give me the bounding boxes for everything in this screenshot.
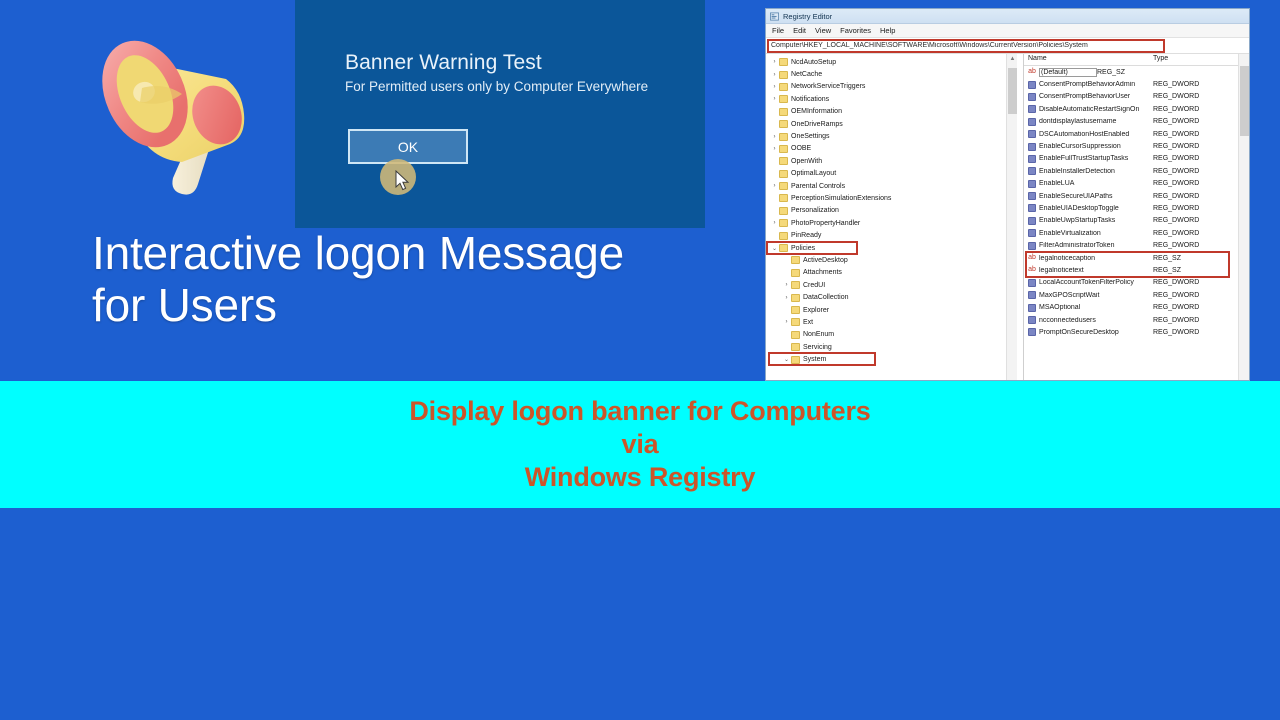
dword-value-icon [1028, 229, 1036, 237]
cyan-caption-banner: Display logon banner for Computers via W… [0, 381, 1280, 508]
dword-value-icon [1028, 167, 1036, 175]
value-type: REG_DWORD [1153, 317, 1213, 324]
chevron-icon[interactable]: › [782, 282, 791, 288]
dword-value-icon [1028, 93, 1036, 101]
value-row[interactable]: ablegalnoticetextREG_SZ [1024, 264, 1249, 276]
value-name: EnableUIADesktopToggle [1039, 205, 1153, 212]
value-row[interactable]: ab(Default)REG_SZ [1024, 66, 1249, 78]
folder-icon [791, 269, 800, 277]
value-row[interactable]: EnableLUAREG_DWORD [1024, 178, 1249, 190]
regedit-titlebar: Registry Editor [766, 9, 1249, 24]
dword-value-icon [1028, 316, 1036, 324]
value-type: REG_DWORD [1153, 131, 1213, 138]
folder-icon [779, 219, 788, 227]
chevron-icon[interactable]: › [770, 72, 779, 78]
dword-value-icon [1028, 143, 1036, 151]
value-name: legalnoticecaption [1039, 255, 1153, 262]
banner-body-text: For Permitted users only by Computer Eve… [345, 79, 648, 94]
value-row[interactable]: LocalAccountTokenFilterPolicyREG_DWORD [1024, 277, 1249, 289]
tree-item[interactable]: Personalization [766, 205, 1023, 217]
menu-view[interactable]: View [815, 26, 831, 35]
registry-editor-window: Registry Editor File Edit View Favorites… [765, 8, 1250, 381]
tree-item-label: Explorer [803, 307, 829, 314]
caption-line-1: Display logon banner for Computers [409, 396, 870, 427]
value-type: REG_DWORD [1153, 193, 1213, 200]
value-type: REG_DWORD [1153, 230, 1213, 237]
folder-icon [779, 157, 788, 165]
tree-item[interactable]: ActiveDesktop [766, 254, 1023, 266]
folder-icon [779, 182, 788, 190]
chevron-icon[interactable]: › [770, 84, 779, 90]
tree-item-label: NcdAutoSetup [791, 59, 836, 66]
value-row[interactable]: ConsentPromptBehaviorUserREG_DWORD [1024, 91, 1249, 103]
folder-icon [779, 71, 788, 79]
caption-line-2: via [622, 429, 659, 460]
tree-item-label: NetworkServiceTriggers [791, 83, 865, 90]
chevron-icon[interactable]: › [770, 59, 779, 65]
value-type: REG_DWORD [1153, 155, 1213, 162]
page-title: Interactive logon Message for Users [92, 228, 792, 331]
folder-icon [779, 170, 788, 178]
value-type: REG_DWORD [1153, 168, 1213, 175]
column-header-type[interactable]: Type [1149, 54, 1209, 65]
registry-tree: ›NcdAutoSetup›NetCache›NetworkServiceTri… [766, 54, 1023, 366]
value-row[interactable]: EnableUwpStartupTasksREG_DWORD [1024, 215, 1249, 227]
values-scrollbar[interactable] [1238, 54, 1249, 380]
dword-value-icon [1028, 180, 1036, 188]
string-value-icon: ab [1028, 68, 1036, 76]
folder-icon [791, 281, 800, 289]
folder-icon [779, 58, 788, 66]
value-row[interactable]: FilterAdministratorTokenREG_DWORD [1024, 239, 1249, 251]
chevron-icon[interactable]: › [770, 183, 779, 189]
folder-icon [791, 294, 800, 302]
folder-icon [779, 244, 788, 252]
folder-icon [791, 343, 800, 351]
tree-scrollbar-thumb[interactable] [1008, 68, 1017, 114]
value-name: PromptOnSecureDesktop [1039, 329, 1153, 336]
values-column-headers: Name Type [1024, 54, 1249, 66]
tree-item-label: Servicing [803, 344, 832, 351]
value-type: REG_DWORD [1153, 81, 1213, 88]
folder-icon [779, 232, 788, 240]
value-name: MaxGPOScriptWait [1039, 292, 1153, 299]
folder-icon [791, 256, 800, 264]
tree-item-label: OptimalLayout [791, 170, 836, 177]
tree-item-label: PinReady [791, 232, 821, 239]
tree-item-label: Ext [803, 319, 813, 326]
tree-item[interactable]: OptimalLayout [766, 168, 1023, 180]
value-row[interactable]: EnableVirtualizationREG_DWORD [1024, 227, 1249, 239]
registry-tree-pane[interactable]: ›NcdAutoSetup›NetCache›NetworkServiceTri… [766, 54, 1024, 380]
string-value-icon: ab [1028, 254, 1036, 262]
chevron-icon[interactable]: › [770, 96, 779, 102]
tree-item[interactable]: Servicing [766, 341, 1023, 353]
folder-icon [791, 306, 800, 314]
values-scrollbar-thumb[interactable] [1240, 66, 1249, 136]
value-row[interactable]: ncconnectedusersREG_DWORD [1024, 314, 1249, 326]
value-type: REG_DWORD [1153, 180, 1213, 187]
tree-item[interactable]: ›DataCollection [766, 291, 1023, 303]
value-type: REG_DWORD [1153, 242, 1213, 249]
tree-item-label: OpenWith [791, 158, 822, 165]
folder-icon [779, 120, 788, 128]
chevron-icon[interactable]: › [770, 146, 779, 152]
column-header-name[interactable]: Name [1024, 54, 1149, 65]
value-type: REG_DWORD [1153, 279, 1213, 286]
value-name: legalnoticetext [1039, 267, 1153, 274]
tree-item[interactable]: ›NetCache [766, 68, 1023, 80]
tree-scroll-up-arrow[interactable]: ▲ [1007, 54, 1018, 65]
tree-item-label: Parental Controls [791, 183, 845, 190]
slide-bottom-area [0, 508, 1280, 720]
value-type: REG_SZ [1153, 255, 1213, 262]
dword-value-icon [1028, 304, 1036, 312]
logon-banner-dialog: Banner Warning Test For Permitted users … [295, 0, 705, 228]
chevron-icon[interactable]: › [770, 220, 779, 226]
value-type: REG_DWORD [1153, 205, 1213, 212]
tree-item-label: NonEnum [803, 331, 834, 338]
chevron-icon[interactable]: ⌄ [782, 356, 791, 363]
tree-item[interactable]: OEMInformation [766, 106, 1023, 118]
value-name: (Default) [1039, 68, 1097, 77]
value-name: EnableLUA [1039, 180, 1153, 187]
dword-value-icon [1028, 130, 1036, 138]
tree-item-label: System [803, 356, 826, 363]
value-name: EnableFullTrustStartupTasks [1039, 155, 1153, 162]
folder-icon [791, 331, 800, 339]
string-value-icon: ab [1028, 266, 1036, 274]
tree-item-label: CredUI [803, 282, 825, 289]
tree-item[interactable]: Attachments [766, 267, 1023, 279]
registry-values-pane[interactable]: Name Type ab(Default)REG_SZConsentPrompt… [1024, 54, 1249, 380]
megaphone-icon [72, 22, 282, 212]
value-row[interactable]: ablegalnoticecaptionREG_SZ [1024, 252, 1249, 264]
value-type: REG_DWORD [1153, 292, 1213, 299]
value-name: ConsentPromptBehaviorUser [1039, 93, 1153, 100]
value-row[interactable]: PromptOnSecureDesktopREG_DWORD [1024, 326, 1249, 338]
tree-item[interactable]: ›Parental Controls [766, 180, 1023, 192]
regedit-body: ›NcdAutoSetup›NetCache›NetworkServiceTri… [766, 54, 1249, 380]
value-type: REG_DWORD [1153, 304, 1213, 311]
folder-icon [779, 194, 788, 202]
dword-value-icon [1028, 242, 1036, 250]
tree-item[interactable]: PinReady [766, 229, 1023, 241]
dword-value-icon [1028, 155, 1036, 163]
tree-item-label: Notifications [791, 96, 829, 103]
tree-item[interactable]: ›OneSettings [766, 130, 1023, 142]
value-type: REG_DWORD [1153, 106, 1213, 113]
value-row[interactable]: dontdisplaylastusernameREG_DWORD [1024, 116, 1249, 128]
tree-item-label: Personalization [791, 207, 839, 214]
tree-item[interactable]: ›CredUI [766, 279, 1023, 291]
value-row[interactable]: MaxGPOScriptWaitREG_DWORD [1024, 289, 1249, 301]
value-name: EnableSecureUIAPaths [1039, 193, 1153, 200]
tree-item-label: Attachments [803, 269, 842, 276]
menu-help[interactable]: Help [880, 26, 895, 35]
value-type: REG_SZ [1097, 69, 1157, 76]
tree-item[interactable]: OpenWith [766, 155, 1023, 167]
page-title-line-2: for Users [92, 280, 792, 332]
folder-icon [779, 207, 788, 215]
tree-item-label: DataCollection [803, 294, 849, 301]
tree-item[interactable]: ›NcdAutoSetup [766, 56, 1023, 68]
value-type: REG_DWORD [1153, 217, 1213, 224]
tree-item-label: OneSettings [791, 133, 830, 140]
tree-item[interactable]: Explorer [766, 304, 1023, 316]
tree-item-label: ActiveDesktop [803, 257, 848, 264]
folder-icon [791, 356, 800, 364]
regedit-menubar: File Edit View Favorites Help [766, 24, 1249, 38]
menu-file[interactable]: File [772, 26, 784, 35]
value-name: EnableInstallerDetection [1039, 168, 1153, 175]
ok-button[interactable]: OK [348, 129, 468, 164]
regedit-address-bar[interactable]: Computer\HKEY_LOCAL_MACHINE\SOFTWARE\Mic… [766, 38, 1249, 54]
folder-icon [779, 108, 788, 116]
tree-item[interactable]: ›OOBE [766, 143, 1023, 155]
value-row[interactable]: EnableUIADesktopToggleREG_DWORD [1024, 202, 1249, 214]
value-name: EnableUwpStartupTasks [1039, 217, 1153, 224]
tree-item-label: OOBE [791, 145, 811, 152]
value-row[interactable]: EnableSecureUIAPathsREG_DWORD [1024, 190, 1249, 202]
chevron-icon[interactable]: › [782, 319, 791, 325]
folder-icon [791, 318, 800, 326]
registry-editor-icon [770, 12, 779, 21]
tree-item[interactable]: ⌄System [766, 353, 1023, 365]
value-type: REG_DWORD [1153, 93, 1213, 100]
chevron-icon[interactable]: ⌄ [770, 245, 779, 252]
value-name: DSCAutomationHostEnabled [1039, 131, 1153, 138]
tree-item-label: NetCache [791, 71, 822, 78]
value-name: EnableVirtualization [1039, 230, 1153, 237]
folder-icon [779, 83, 788, 91]
page-title-line-1: Interactive logon Message [92, 228, 792, 280]
value-name: ncconnectedusers [1039, 317, 1153, 324]
value-type: REG_DWORD [1153, 329, 1213, 336]
value-type: REG_SZ [1153, 267, 1213, 274]
value-type: REG_DWORD [1153, 143, 1213, 150]
tree-item[interactable]: ›PhotoPropertyHandler [766, 217, 1023, 229]
tree-item-label: Policies [791, 245, 815, 252]
tree-scrollbar[interactable]: ▲ [1006, 54, 1017, 380]
value-row[interactable]: EnableInstallerDetectionREG_DWORD [1024, 165, 1249, 177]
tree-item[interactable]: ›NetworkServiceTriggers [766, 81, 1023, 93]
tree-item[interactable]: ›Ext [766, 316, 1023, 328]
tree-item[interactable]: ›Notifications [766, 93, 1023, 105]
value-name: EnableCursorSuppression [1039, 143, 1153, 150]
folder-icon [779, 95, 788, 103]
menu-favorites[interactable]: Favorites [840, 26, 871, 35]
value-name: LocalAccountTokenFilterPolicy [1039, 279, 1153, 286]
value-name: dontdisplaylastusername [1039, 118, 1153, 125]
folder-icon [779, 145, 788, 153]
tree-item-label: PerceptionSimulationExtensions [791, 195, 891, 202]
value-type: REG_DWORD [1153, 118, 1213, 125]
dword-value-icon [1028, 81, 1036, 89]
mouse-cursor-icon [395, 170, 411, 192]
dword-value-icon [1028, 118, 1036, 126]
value-row[interactable]: EnableCursorSuppressionREG_DWORD [1024, 140, 1249, 152]
banner-caption-text: Banner Warning Test [345, 51, 542, 75]
value-row[interactable]: ConsentPromptBehaviorAdminREG_DWORD [1024, 78, 1249, 90]
dword-value-icon [1028, 279, 1036, 287]
registry-values-list: ab(Default)REG_SZConsentPromptBehaviorAd… [1024, 66, 1249, 339]
dword-value-icon [1028, 192, 1036, 200]
value-row[interactable]: DSCAutomationHostEnabledREG_DWORD [1024, 128, 1249, 140]
registry-path-text: Computer\HKEY_LOCAL_MACHINE\SOFTWARE\Mic… [768, 42, 1247, 49]
dword-value-icon [1028, 291, 1036, 299]
caption-line-3: Windows Registry [525, 462, 756, 493]
tree-item[interactable]: NonEnum [766, 329, 1023, 341]
dword-value-icon [1028, 105, 1036, 113]
chevron-icon[interactable]: › [782, 295, 791, 301]
dword-value-icon [1028, 204, 1036, 212]
menu-edit[interactable]: Edit [793, 26, 806, 35]
regedit-title-text: Registry Editor [783, 12, 832, 21]
tree-item-label: OneDriveRamps [791, 121, 843, 128]
chevron-icon[interactable]: › [770, 134, 779, 140]
tree-item[interactable]: OneDriveRamps [766, 118, 1023, 130]
value-row[interactable]: DisableAutomaticRestartSignOnREG_DWORD [1024, 103, 1249, 115]
tree-item[interactable]: PerceptionSimulationExtensions [766, 192, 1023, 204]
value-name: ConsentPromptBehaviorAdmin [1039, 81, 1153, 88]
slide-top-area: Interactive logon Message for Users Bann… [0, 0, 1280, 381]
folder-icon [779, 133, 788, 141]
dword-value-icon [1028, 328, 1036, 336]
value-row[interactable]: MSAOptionalREG_DWORD [1024, 301, 1249, 313]
value-name: DisableAutomaticRestartSignOn [1039, 106, 1153, 113]
value-name: MSAOptional [1039, 304, 1153, 311]
tree-item[interactable]: ⌄Policies [766, 242, 1023, 254]
value-row[interactable]: EnableFullTrustStartupTasksREG_DWORD [1024, 153, 1249, 165]
tree-item-label: PhotoPropertyHandler [791, 220, 860, 227]
value-name: FilterAdministratorToken [1039, 242, 1153, 249]
dword-value-icon [1028, 217, 1036, 225]
tree-item-label: OEMInformation [791, 108, 842, 115]
